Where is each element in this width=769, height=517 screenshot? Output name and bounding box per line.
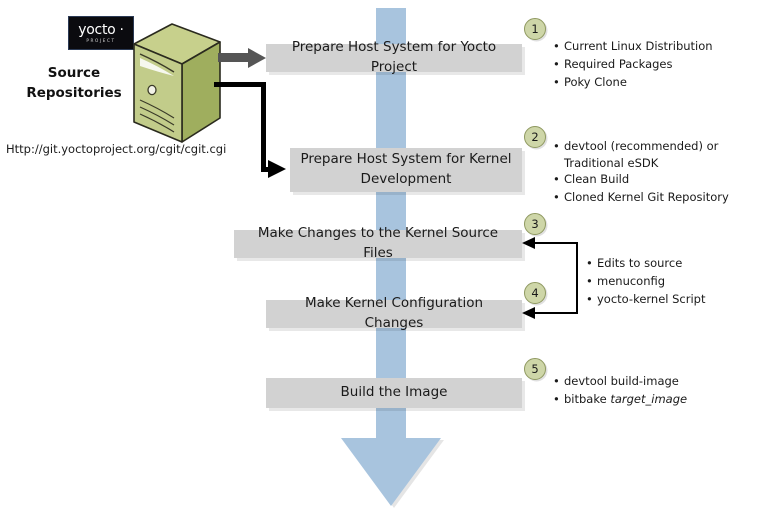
list-item: •Clean Build [553, 171, 739, 189]
bullet-icon: • [553, 38, 560, 56]
list-item: •Cloned Kernel Git Repository [553, 189, 739, 207]
process-box-make-config-changes[interactable]: Make Kernel Configuration Changes [266, 300, 522, 328]
list-item: •devtool build-image [553, 373, 687, 391]
step-2-note-2: Clean Build [564, 172, 629, 186]
bullet-icon: • [553, 171, 560, 189]
step-1-note-1: Current Linux Distribution [564, 39, 713, 53]
bullet-icon: • [553, 391, 560, 409]
step-5-note-2-command: bitbake [564, 392, 610, 406]
bullet-icon: • [586, 255, 593, 273]
yocto-logo-subtext: PROJECT [86, 39, 115, 43]
source-label-line1: Source [14, 64, 134, 84]
workflow-spine-arrowhead [341, 438, 441, 506]
process-box-5-label: Build the Image [341, 383, 448, 403]
feedback-bracket-vertical [576, 242, 578, 314]
bullet-icon: • [553, 74, 560, 92]
process-box-3-label: Make Changes to the Kernel Source Files [242, 224, 514, 263]
process-box-prepare-host-yocto[interactable]: Prepare Host System for Yocto Project [266, 44, 522, 72]
step-2-note-1: devtool (recommended) or Traditional eSD… [564, 139, 718, 170]
list-item: •menuconfig [586, 273, 706, 291]
bullet-icon: • [586, 273, 593, 291]
step-number-circle-2: 2 [524, 126, 546, 148]
connector-server-to-step2-arrowhead [268, 160, 286, 178]
process-box-2-line2: Development [361, 171, 452, 187]
step-5-note-1: devtool build-image [564, 374, 679, 388]
step-number-circle-3: 3 [524, 213, 546, 235]
list-item: •Poky Clone [553, 74, 713, 92]
list-item: •yocto-kernel Script [586, 291, 706, 309]
repository-url-text: Http://git.yoctoproject.org/cgit/cgit.cg… [6, 142, 226, 156]
yocto-logo-wordmark: yocto · [78, 23, 123, 37]
process-box-build-image[interactable]: Build the Image [266, 378, 522, 408]
step-1-note-2: Required Packages [564, 57, 673, 71]
yocto-project-logo: yocto · PROJECT [68, 16, 134, 50]
connector-server-to-step2-segment1 [214, 82, 266, 87]
step-5-notes-list: •devtool build-image •bitbake target_ima… [553, 373, 687, 409]
step-number-circle-4: 4 [524, 282, 546, 304]
server-tower-icon [128, 22, 224, 144]
diagram-canvas: yocto · PROJECT Source Repositories Http… [0, 0, 769, 517]
feedback-arrowhead-step4 [522, 307, 535, 319]
bullet-icon: • [553, 373, 560, 391]
feedback-arrowhead-step3 [522, 237, 535, 249]
list-item: •Edits to source [586, 255, 706, 273]
connector-server-to-step1-shaft [218, 53, 250, 62]
step-1-notes-list: •Current Linux Distribution •Required Pa… [553, 38, 713, 91]
step-number-circle-1: 1 [524, 18, 546, 40]
feedback-bracket-bottom [533, 312, 578, 314]
list-item: •bitbake target_image [553, 391, 687, 409]
feedback-bracket-top [533, 242, 578, 244]
process-box-make-source-changes[interactable]: Make Changes to the Kernel Source Files [234, 230, 522, 258]
list-item: •Required Packages [553, 56, 713, 74]
process-box-1-label: Prepare Host System for Yocto Project [274, 38, 514, 77]
step-1-note-3: Poky Clone [564, 75, 627, 89]
step-3-4-note-1: Edits to source [597, 256, 682, 270]
process-box-prepare-host-kernel[interactable]: Prepare Host System for Kernel Developme… [290, 148, 522, 192]
source-repositories-label: Source Repositories [14, 64, 134, 103]
step-2-note-3: Cloned Kernel Git Repository [564, 190, 729, 204]
connector-server-to-step2-segment2 [261, 82, 266, 172]
source-label-line2: Repositories [14, 84, 134, 104]
process-box-2-line1: Prepare Host System for Kernel [300, 151, 511, 167]
step-2-notes-list: •devtool (recommended) or Traditional eS… [553, 138, 739, 207]
list-item: •devtool (recommended) or Traditional eS… [553, 138, 739, 171]
process-box-4-label: Make Kernel Configuration Changes [274, 294, 514, 333]
process-box-2-label: Prepare Host System for Kernel Developme… [300, 150, 511, 189]
step-3-4-note-3: yocto-kernel Script [597, 292, 706, 306]
step-3-4-note-2: menuconfig [597, 274, 665, 288]
bullet-icon: • [553, 189, 560, 207]
bullet-icon: • [553, 56, 560, 74]
step-3-4-notes-list: •Edits to source •menuconfig •yocto-kern… [586, 255, 706, 308]
connector-server-to-step1-arrowhead [248, 48, 266, 68]
step-number-circle-5: 5 [524, 358, 546, 380]
bullet-icon: • [553, 138, 560, 155]
bullet-icon: • [586, 291, 593, 309]
list-item: •Current Linux Distribution [553, 38, 713, 56]
step-5-note-2-argument: target_image [610, 392, 687, 406]
